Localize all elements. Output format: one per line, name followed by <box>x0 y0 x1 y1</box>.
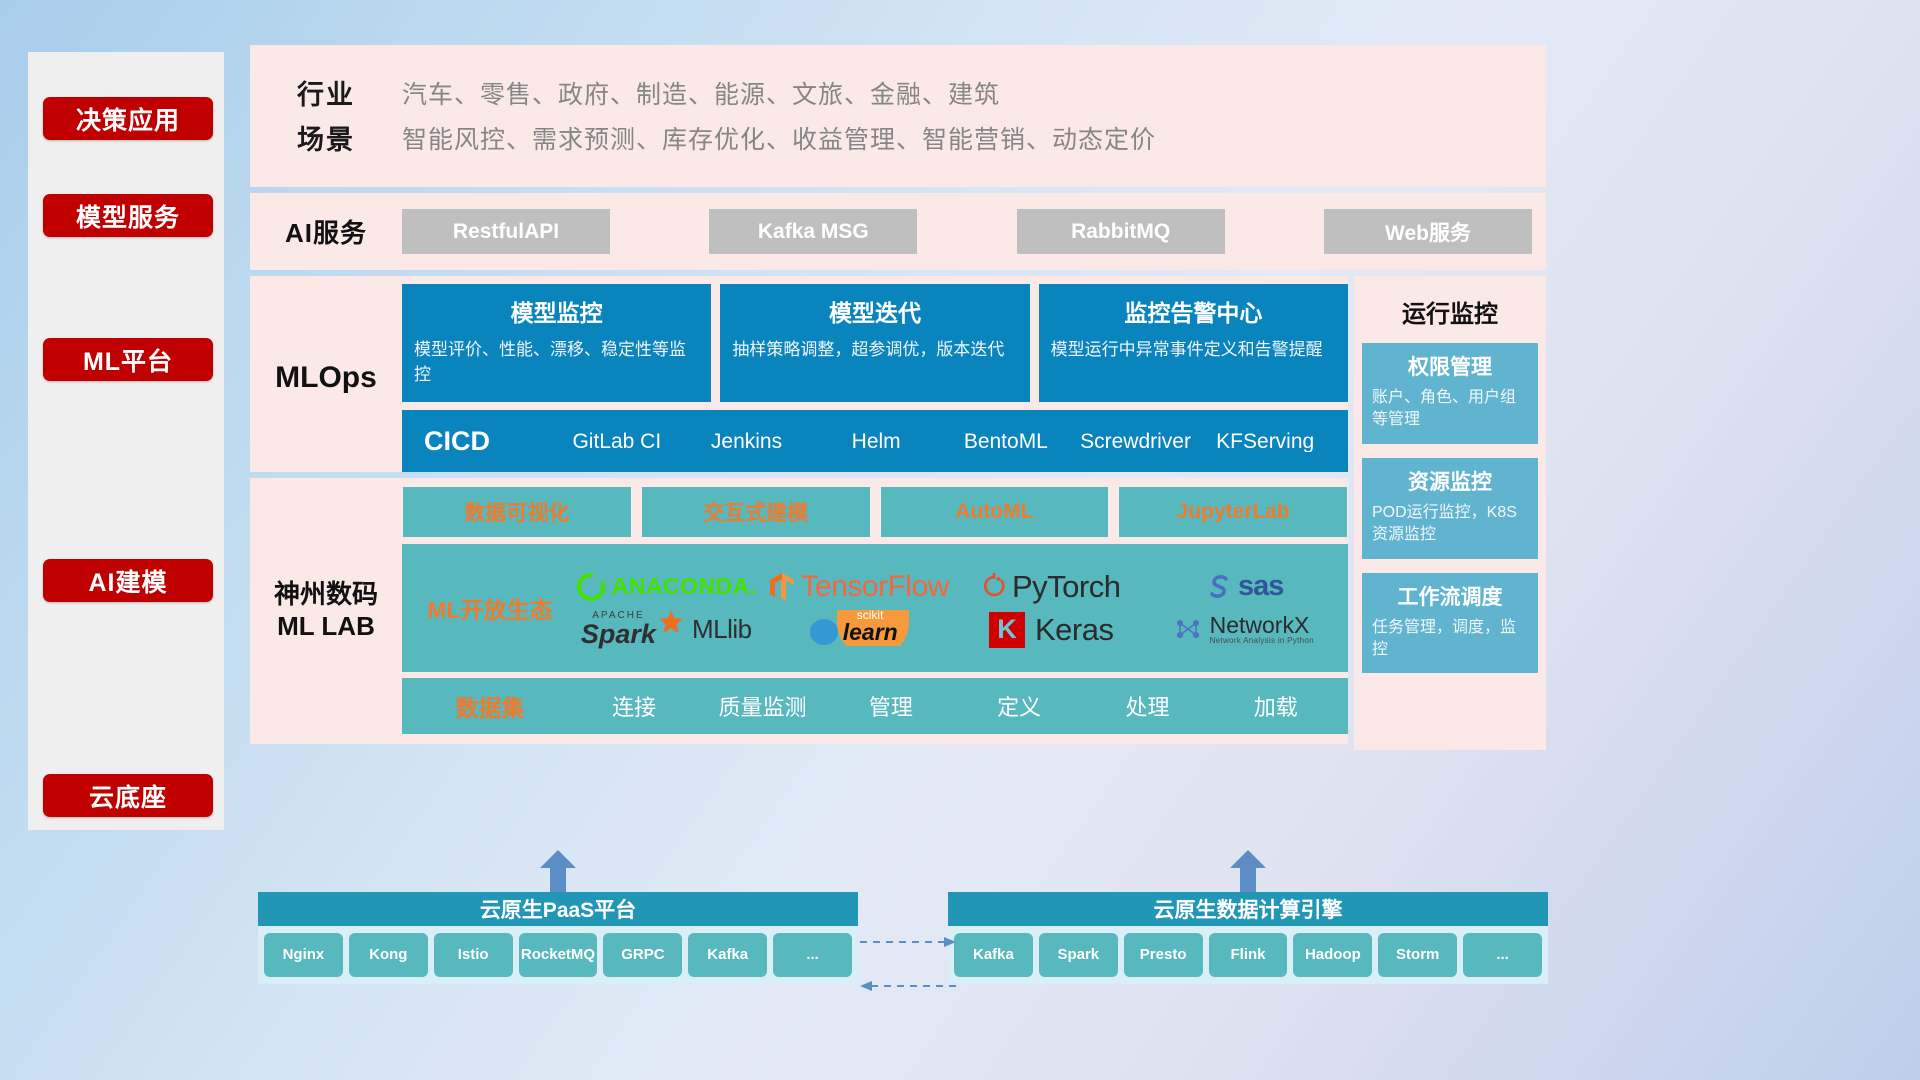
mllib-logo-text: MLlib <box>692 614 752 645</box>
keras-mark-icon: K <box>989 612 1025 648</box>
ai-service-chip-kafka-msg[interactable]: Kafka MSG <box>709 209 917 254</box>
mlops-card-title: 监控告警中心 <box>1051 294 1336 328</box>
middle-wrapper: MLOps 模型监控 模型评价、性能、漂移、稳定性等监控 模型迭代 抽样策略调整… <box>250 276 1546 750</box>
tool-chip-interactive-modeling[interactable]: 交互式建模 <box>641 486 871 538</box>
cicd-bar: CICD GitLab CI Jenkins Helm BentoML Scre… <box>402 410 1348 472</box>
tool-chip-data-viz[interactable]: 数据可视化 <box>402 486 632 538</box>
anaconda-logo-text: ANACONDA. <box>612 573 757 600</box>
mlops-card-title: 模型迭代 <box>732 294 1017 328</box>
engine-chip-storm[interactable]: Storm <box>1378 933 1457 977</box>
rail-chip-cloud-base[interactable]: 云底座 <box>43 774 213 817</box>
ml-lab-tool-list: 数据可视化 交互式建模 AutoML JupyterLab <box>402 486 1348 538</box>
scikit-learn-text: learn <box>843 619 898 646</box>
dataset-item-load[interactable]: 加载 <box>1212 690 1340 722</box>
dataset-label: 数据集 <box>410 689 570 723</box>
anaconda-mark-icon <box>576 572 606 602</box>
connector-arrowhead-left <box>860 981 872 991</box>
networkx-logo-text: NetworkX <box>1210 613 1314 637</box>
paas-chip-istio[interactable]: Istio <box>434 933 513 977</box>
industry-values: 汽车、零售、政府、制造、能源、文旅、金融、建筑 <box>402 75 1000 111</box>
paas-up-arrow-icon <box>536 848 580 892</box>
cicd-item-gitlab-ci[interactable]: GitLab CI <box>552 431 682 452</box>
data-engine-block: 云原生数据计算引擎 Kafka Spark Presto Flink Hadoo… <box>948 892 1548 984</box>
mlops-card-desc: 抽样策略调整，超参调优，版本迭代 <box>732 338 1017 363</box>
mlops-content: 模型监控 模型评价、性能、漂移、稳定性等监控 模型迭代 抽样策略调整，超参调优，… <box>402 284 1348 472</box>
pytorch-flame-icon <box>982 572 1006 602</box>
ai-service-chip-list: RestfulAPI Kafka MSG RabbitMQ Web服务 <box>402 209 1546 254</box>
ops-card-desc: 账户、角色、用户组等管理 <box>1372 387 1528 432</box>
engine-chip-hadoop[interactable]: Hadoop <box>1293 933 1372 977</box>
data-engine-title: 云原生数据计算引擎 <box>948 892 1548 926</box>
ops-panel-title: 运行监控 <box>1362 294 1538 329</box>
ai-service-label: AI服务 <box>250 213 402 250</box>
mlops-card-desc: 模型评价、性能、漂移、稳定性等监控 <box>414 338 699 387</box>
paas-chip-kafka[interactable]: Kafka <box>688 933 767 977</box>
spark-wordmark: APACHE Spark <box>581 611 656 648</box>
ops-card-permission[interactable]: 权限管理 账户、角色、用户组等管理 <box>1362 343 1538 444</box>
paas-chip-grpc[interactable]: GRPC <box>603 933 682 977</box>
ml-lab-label-line1: 神州数码 <box>274 578 378 611</box>
ai-service-band: AI服务 RestfulAPI Kafka MSG RabbitMQ Web服务 <box>250 193 1546 270</box>
dataset-item-connect[interactable]: 连接 <box>570 690 698 722</box>
engine-chip-more[interactable]: ... <box>1463 933 1542 977</box>
keras-logo-text: Keras <box>1035 612 1113 648</box>
ops-card-desc: 任务管理，调度，监控 <box>1372 617 1528 662</box>
data-engine-chip-list: Kafka Spark Presto Flink Hadoop Storm ..… <box>948 926 1548 984</box>
industry-scenario-band: 行业 汽车、零售、政府、制造、能源、文旅、金融、建筑 场景 智能风控、需求预测、… <box>250 45 1546 187</box>
cicd-title: CICD <box>424 426 552 457</box>
infrastructure-section: 云原生PaaS平台 Nginx Kong Istio RocketMQ GRPC… <box>250 892 1920 984</box>
pytorch-logo-text: PyTorch <box>1012 569 1120 605</box>
rail-chip-ml-platform[interactable]: ML平台 <box>43 338 213 381</box>
scenario-label: 场景 <box>250 118 402 157</box>
platform-column: MLOps 模型监控 模型评价、性能、漂移、稳定性等监控 模型迭代 抽样策略调整… <box>250 276 1348 750</box>
pytorch-logo: PyTorch <box>982 569 1120 605</box>
cicd-item-screwdriver[interactable]: Screwdriver <box>1071 431 1201 452</box>
cicd-item-list: GitLab CI Jenkins Helm BentoML Screwdriv… <box>552 431 1330 452</box>
ops-card-title: 资源监控 <box>1372 466 1528 496</box>
sas-mark-icon <box>1204 573 1232 601</box>
ml-lab-band: 神州数码 ML LAB 数据可视化 交互式建模 AutoML JupyterLa… <box>250 478 1348 744</box>
industry-row: 行业 汽车、零售、政府、制造、能源、文旅、金融、建筑 <box>250 73 1546 112</box>
ml-lab-label-line2: ML LAB <box>277 610 375 643</box>
engine-chip-flink[interactable]: Flink <box>1209 933 1288 977</box>
engine-chip-spark[interactable]: Spark <box>1039 933 1118 977</box>
spark-logo-text: Spark <box>581 621 656 648</box>
ops-card-desc: POD运行监控，K8S资源监控 <box>1372 502 1528 547</box>
mlops-card-model-iteration[interactable]: 模型迭代 抽样策略调整，超参调优，版本迭代 <box>720 284 1029 402</box>
keras-logo: K Keras <box>989 612 1113 648</box>
mlops-card-title: 模型监控 <box>414 294 699 328</box>
connector-arrowhead-right <box>944 937 956 947</box>
engine-chip-presto[interactable]: Presto <box>1124 933 1203 977</box>
diagram-canvas: 决策应用 模型服务 ML平台 AI建模 云底座 行业 汽车、零售、政府、制造、能… <box>0 0 1920 1080</box>
mlops-band: MLOps 模型监控 模型评价、性能、漂移、稳定性等监控 模型迭代 抽样策略调整… <box>250 276 1348 472</box>
layer-rail: 决策应用 模型服务 ML平台 AI建模 云底座 <box>28 52 224 830</box>
dataset-item-process[interactable]: 处理 <box>1083 690 1211 722</box>
rail-chip-ai-modeling[interactable]: AI建模 <box>43 559 213 602</box>
tensorflow-logo-text: TensorFlow <box>801 570 949 604</box>
data-engine-up-arrow-icon <box>1226 848 1270 892</box>
networkx-logo: NetworkX Network Analysis in Python <box>1174 613 1314 646</box>
cicd-item-kfserving[interactable]: KFServing <box>1200 431 1330 452</box>
engine-chip-kafka[interactable]: Kafka <box>954 933 1033 977</box>
infra-connector-arrows <box>858 900 958 1020</box>
paas-chip-more[interactable]: ... <box>773 933 852 977</box>
tensorflow-logo: TensorFlow <box>769 570 949 604</box>
networkx-sub-text: Network Analysis in Python <box>1210 637 1314 645</box>
dataset-row: 数据集 连接 质量监测 管理 定义 处理 加载 <box>402 678 1348 734</box>
mlops-card-list: 模型监控 模型评价、性能、漂移、稳定性等监控 模型迭代 抽样策略调整，超参调优，… <box>402 284 1348 402</box>
ml-ecosystem-row: ML开放生态 ANACONDA. <box>402 544 1348 672</box>
ai-service-chip-restfulapi[interactable]: RestfulAPI <box>402 209 610 254</box>
paas-chip-rocketmq[interactable]: RocketMQ <box>519 933 598 977</box>
spark-star-icon <box>658 609 684 635</box>
spark-mllib-logo: APACHE Spark MLlib <box>581 611 752 648</box>
cicd-item-bentoml[interactable]: BentoML <box>941 431 1071 452</box>
tensorflow-mark-icon <box>769 572 795 602</box>
paas-chip-nginx[interactable]: Nginx <box>264 933 343 977</box>
rail-chip-label: 模型服务 <box>76 198 180 234</box>
sas-logo: sas <box>1204 570 1283 603</box>
dataset-item-manage[interactable]: 管理 <box>827 690 955 722</box>
scenario-values: 智能风控、需求预测、库存优化、收益管理、智能营销、动态定价 <box>402 120 1156 156</box>
ops-card-title: 工作流调度 <box>1372 581 1528 611</box>
rail-chip-label: AI建模 <box>88 563 167 599</box>
ai-service-chip-rabbitmq[interactable]: RabbitMQ <box>1017 209 1225 254</box>
ops-card-resource[interactable]: 资源监控 POD运行监控，K8S资源监控 <box>1362 458 1538 559</box>
cicd-item-jenkins[interactable]: Jenkins <box>682 431 812 452</box>
ml-ecosystem-label: ML开放生态 <box>410 591 570 625</box>
paas-chip-kong[interactable]: Kong <box>349 933 428 977</box>
tool-chip-automl[interactable]: AutoML <box>880 486 1110 538</box>
scikit-orange-blob: scikit learn <box>835 608 911 651</box>
main-column: 行业 汽车、零售、政府、制造、能源、文旅、金融、建筑 场景 智能风控、需求预测、… <box>250 45 1546 750</box>
rail-chip-label: 云底座 <box>89 778 167 814</box>
rail-chip-label: 决策应用 <box>76 101 180 137</box>
mlops-card-alert-center[interactable]: 监控告警中心 模型运行中异常事件定义和告警提醒 <box>1039 284 1348 402</box>
scikit-learn-logo: scikit learn <box>807 608 911 651</box>
keras-initial-text: K <box>997 614 1017 645</box>
rail-chip-label: ML平台 <box>83 342 173 378</box>
anaconda-logo: ANACONDA. <box>576 572 757 602</box>
dataset-item-define[interactable]: 定义 <box>955 690 1083 722</box>
dataset-item-list: 连接 质量监测 管理 定义 处理 加载 <box>570 690 1340 722</box>
ops-card-workflow[interactable]: 工作流调度 任务管理，调度，监控 <box>1362 573 1538 674</box>
networkx-wordmark: NetworkX Network Analysis in Python <box>1210 613 1314 646</box>
dataset-item-quality[interactable]: 质量监测 <box>698 690 826 722</box>
networkx-graph-icon <box>1174 615 1204 645</box>
mlops-card-desc: 模型运行中异常事件定义和告警提醒 <box>1051 338 1336 363</box>
ai-service-chip-web[interactable]: Web服务 <box>1324 209 1532 254</box>
paas-platform-title: 云原生PaaS平台 <box>258 892 858 926</box>
paas-chip-list: Nginx Kong Istio RocketMQ GRPC Kafka ... <box>258 926 858 984</box>
mlops-card-model-monitoring[interactable]: 模型监控 模型评价、性能、漂移、稳定性等监控 <box>402 284 711 402</box>
ml-ecosystem-logo-grid: ANACONDA. TensorFlow <box>570 565 1340 651</box>
ops-card-title: 权限管理 <box>1372 351 1528 381</box>
ml-lab-label: 神州数码 ML LAB <box>250 486 402 734</box>
mlops-label: MLOps <box>250 284 402 472</box>
paas-platform-block: 云原生PaaS平台 Nginx Kong Istio RocketMQ GRPC… <box>258 892 858 984</box>
sas-logo-text: sas <box>1238 570 1283 603</box>
scenario-row: 场景 智能风控、需求预测、库存优化、收益管理、智能营销、动态定价 <box>250 118 1546 157</box>
rail-chip-model-service[interactable]: 模型服务 <box>43 194 213 237</box>
industry-label: 行业 <box>250 73 402 112</box>
ml-lab-content: 数据可视化 交互式建模 AutoML JupyterLab ML开放生态 <box>402 486 1348 734</box>
ops-monitoring-panel: 运行监控 权限管理 账户、角色、用户组等管理 资源监控 POD运行监控，K8S资… <box>1354 276 1546 750</box>
cicd-item-helm[interactable]: Helm <box>811 431 941 452</box>
rail-chip-decision[interactable]: 决策应用 <box>43 97 213 140</box>
tool-chip-jupyterlab[interactable]: JupyterLab <box>1118 486 1348 538</box>
